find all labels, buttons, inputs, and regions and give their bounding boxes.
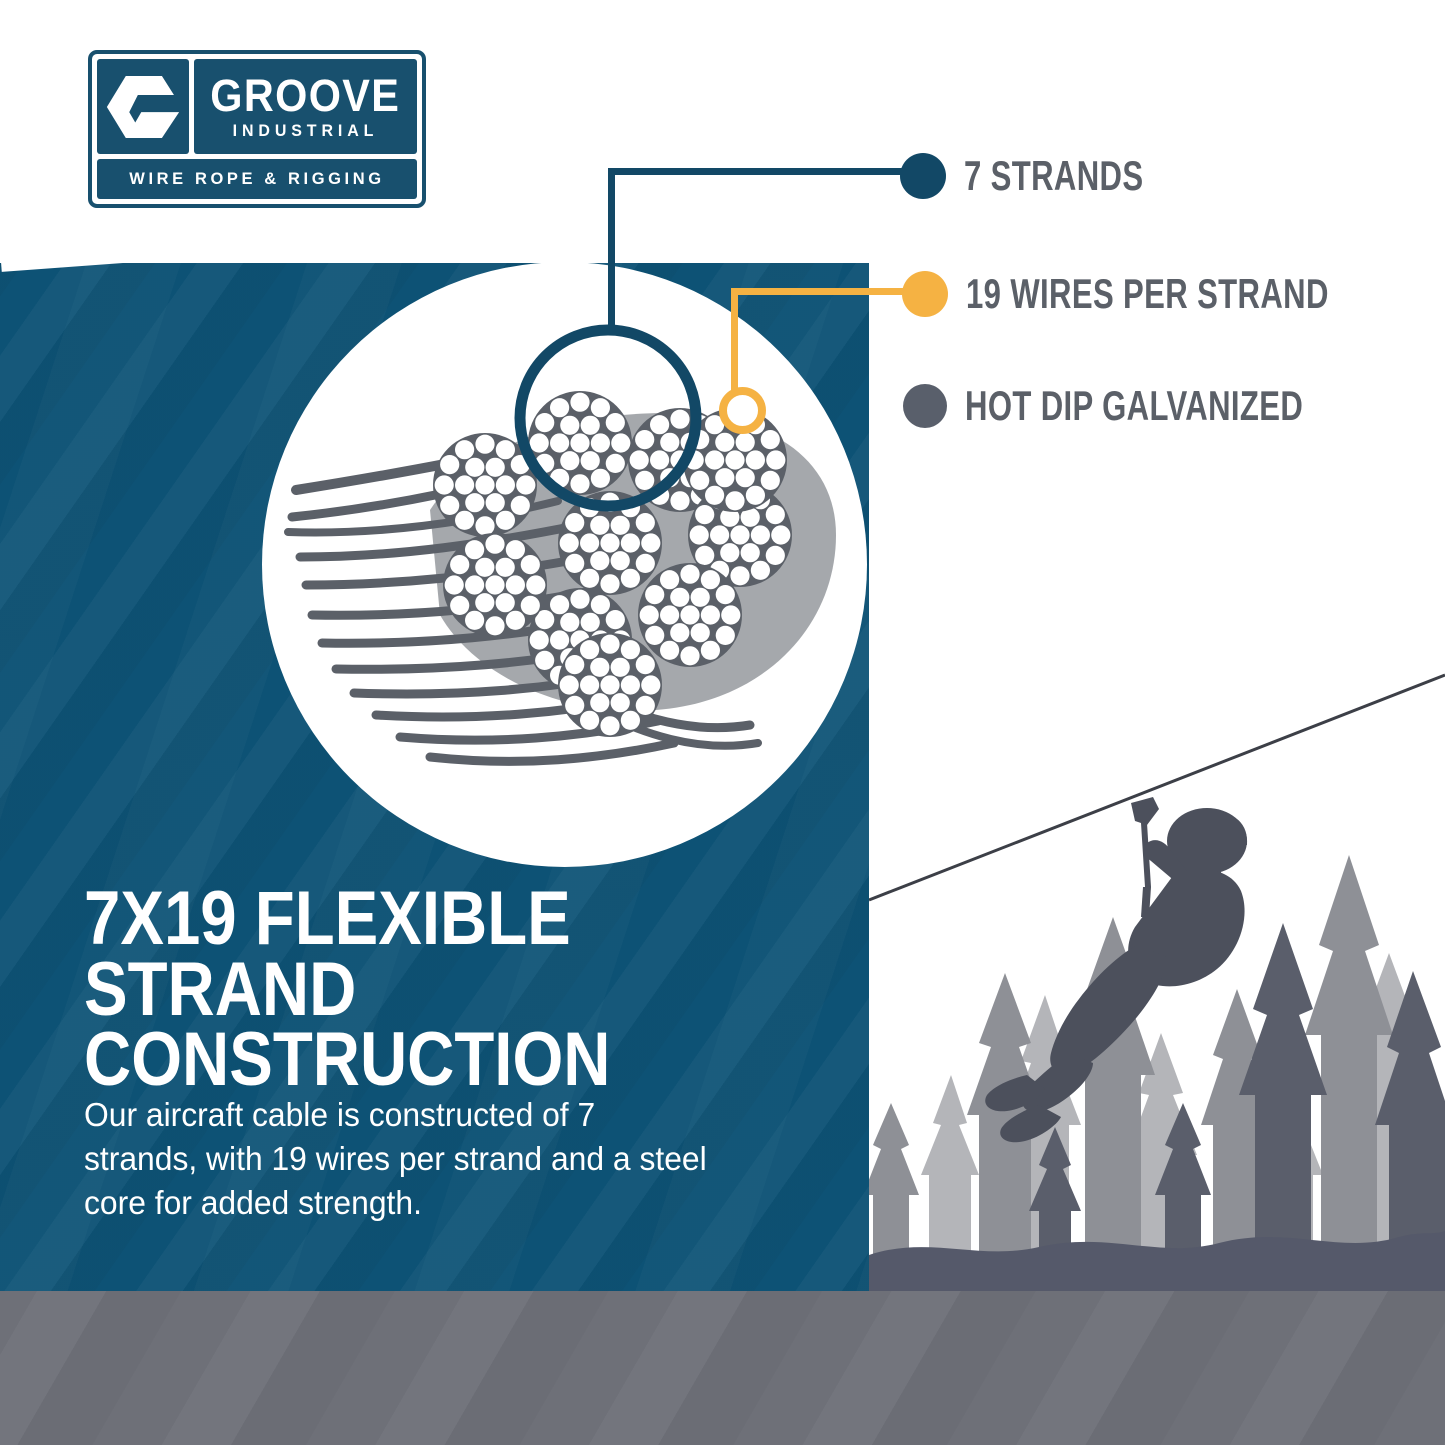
brand-logo[interactable]: GROOVE INDUSTRIAL WIRE ROPE & RIGGING [88,50,426,208]
bottom-bar-stripe-texture [0,1291,1445,1445]
gray-dot-marker [903,384,947,428]
infographic-canvas: GROOVE INDUSTRIAL WIRE ROPE & RIGGING [0,0,1445,1445]
orange-dot-marker [902,271,948,317]
brand-name: GROOVE [211,75,401,116]
callout-label: HOT DIP GALVANIZED [965,382,1303,430]
page-title: 7X19 FLEXIBLE STRAND CONSTRUCTION [84,884,738,1096]
navy-connector-horizontal [608,168,908,175]
bottom-accent-bar [0,1291,1445,1445]
callout-hot-dip-galvanized[interactable]: HOT DIP GALVANIZED [903,382,1422,430]
body-description: Our aircraft cable is constructed of 7 s… [84,1094,711,1227]
wire-rope-cross-section-illustration [280,285,850,785]
orange-ring-marker [719,387,766,434]
callout-7-strands[interactable]: 7 STRANDS [900,152,1207,200]
g-hexagon-logo-icon [97,59,189,154]
brand-tagline: WIRE ROPE & RIGGING [129,170,384,189]
brand-subname: INDUSTRIAL [233,122,379,139]
callout-label: 7 STRANDS [964,152,1143,200]
zipline-rider-forest-photo [869,655,1445,1291]
callout-label: 19 WIRES PER STRAND [966,270,1329,318]
page-title-line-2: STRAND CONSTRUCTION [84,955,738,1096]
brand-tagline-bar: WIRE ROPE & RIGGING [97,159,417,199]
callout-19-wires-per-strand[interactable]: 19 WIRES PER STRAND [902,270,1445,318]
navy-dot-marker [900,153,946,199]
